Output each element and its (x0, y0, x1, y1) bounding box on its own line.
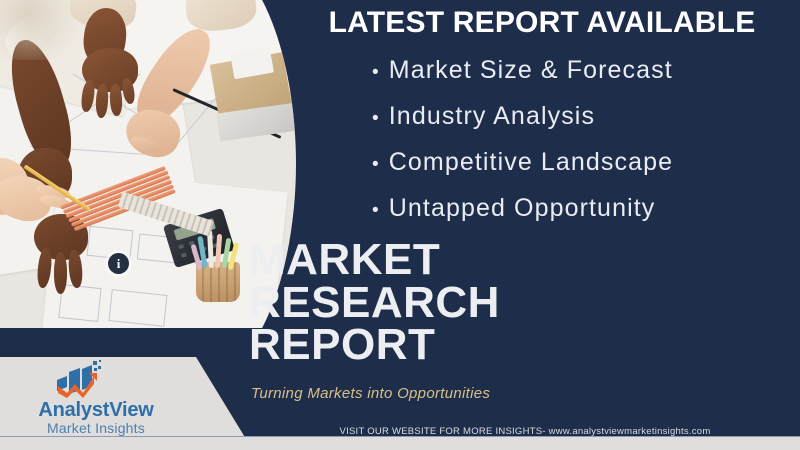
list-item: • Industry Analysis (372, 104, 792, 129)
logo-name: AnalystView (0, 399, 192, 422)
bullet-marker: • (372, 201, 380, 220)
marketing-banner: i LATEST REPORT AVAILABLE • Market Size … (0, 0, 800, 450)
report-title-line: MARKET (249, 239, 500, 282)
logo-subtitle: Market Insights (0, 420, 192, 436)
footer-strip (0, 437, 800, 450)
list-item-label: Untapped Opportunity (389, 196, 656, 221)
report-title-line: REPORT (249, 324, 500, 367)
list-item-label: Industry Analysis (389, 104, 595, 129)
tagline: Turning Markets into Opportunities (251, 385, 490, 402)
list-item-label: Competitive Landscape (389, 150, 673, 175)
bullet-marker: • (372, 155, 380, 174)
list-item: • Untapped Opportunity (372, 196, 792, 221)
bullet-marker: • (372, 109, 380, 128)
logo-panel: AnalystView Market Insights (0, 357, 252, 439)
list-item-label: Market Size & Forecast (389, 58, 673, 83)
feature-list: • Market Size & Forecast • Industry Anal… (372, 58, 792, 242)
info-glyph: i (117, 256, 121, 272)
list-item: • Competitive Landscape (372, 150, 792, 175)
list-item: • Market Size & Forecast (372, 58, 792, 83)
report-title: MARKET RESEARCH REPORT (249, 239, 500, 367)
page-title: LATEST REPORT AVAILABLE (292, 6, 792, 40)
bar-chart-growth-icon (53, 360, 105, 400)
info-icon[interactable]: i (108, 253, 129, 274)
report-title-line: RESEARCH (249, 282, 500, 325)
bullet-marker: • (372, 63, 380, 82)
